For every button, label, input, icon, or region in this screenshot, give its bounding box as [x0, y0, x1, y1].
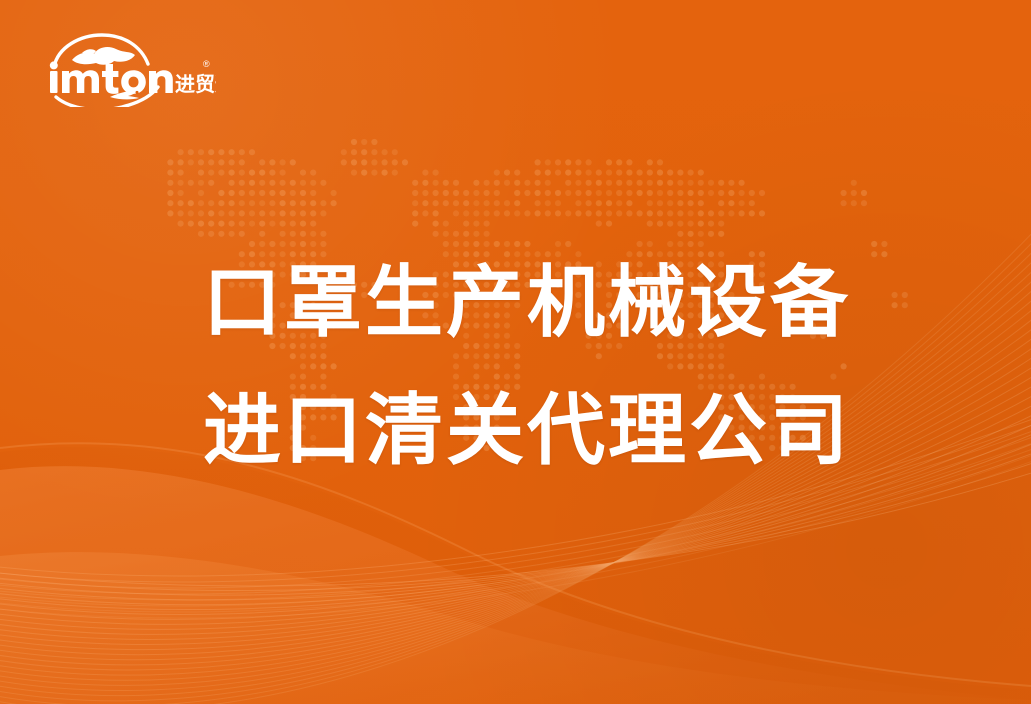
- imton-logo[interactable]: 进贸通 ®: [36, 31, 216, 107]
- promo-banner: 进贸通 ® 口罩生产机械设备 进口清关代理公司: [0, 0, 1031, 704]
- globe-arc-icon: [54, 35, 148, 67]
- headline-line-2: 进口清关代理公司: [203, 366, 843, 494]
- headline: 口罩生产机械设备 进口清关代理公司: [203, 238, 843, 494]
- headline-line-1: 口罩生产机械设备: [203, 238, 843, 366]
- logo-trademark-symbol: ®: [203, 59, 210, 69]
- logo-chinese-name: 进贸通: [175, 72, 216, 96]
